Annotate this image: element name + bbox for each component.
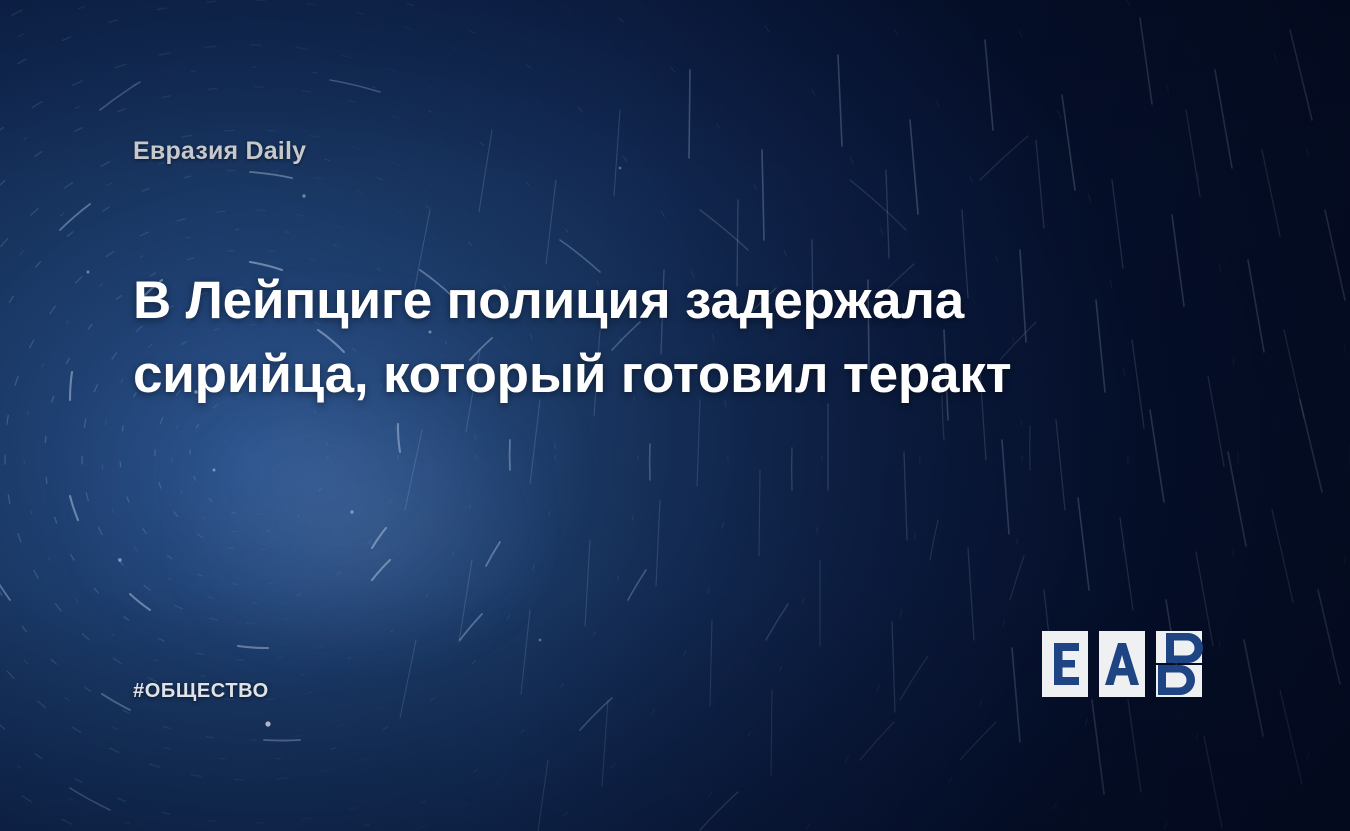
eadaily-logo[interactable] bbox=[1042, 631, 1222, 697]
brand-title: Евразия Daily bbox=[133, 137, 306, 166]
headline: В Лейпциге полиция задержала сирийца, ко… bbox=[133, 264, 1093, 412]
card-content: Евразия Daily В Лейпциге полиция задержа… bbox=[0, 0, 1350, 831]
category-tag[interactable]: #ОБЩЕСТВО bbox=[133, 680, 269, 703]
news-card: Евразия Daily В Лейпциге полиция задержа… bbox=[0, 0, 1350, 831]
